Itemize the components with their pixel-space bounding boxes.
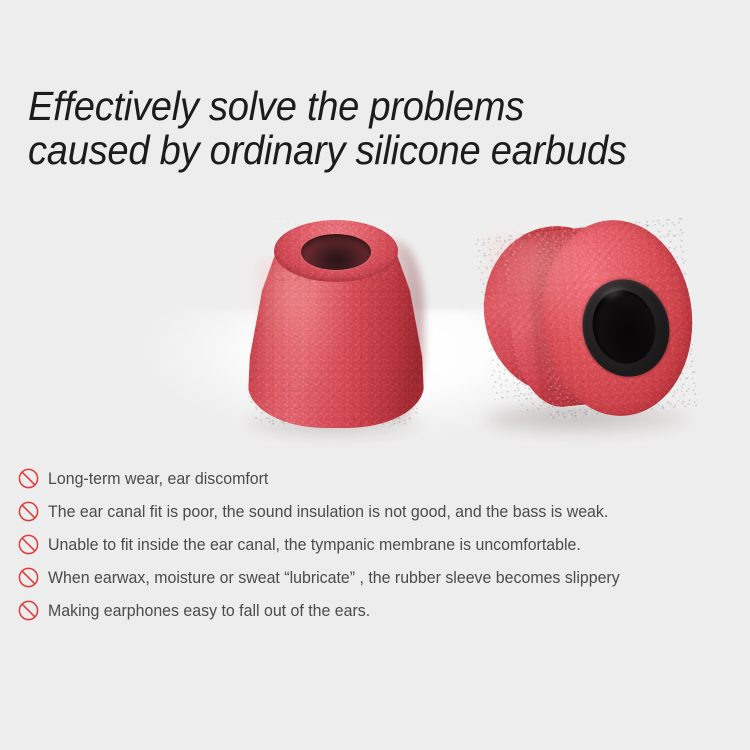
list-item-label: Making earphones easy to fall out of the… — [48, 601, 370, 621]
foam-bore-hole — [301, 234, 371, 270]
headline-line-2: caused by ordinary silicone earbuds — [28, 128, 679, 172]
product-marketing-poster: Effectively solve the problems caused by… — [0, 0, 750, 750]
prohibition-icon — [18, 600, 39, 621]
prohibition-icon — [18, 468, 39, 489]
list-item-label: When earwax, moisture or sweat “lubricat… — [48, 568, 620, 588]
list-item-label: Long-term wear, ear discomfort — [48, 469, 268, 489]
list-item: Long-term wear, ear discomfort — [18, 462, 750, 495]
list-item: The ear canal fit is poor, the sound ins… — [18, 495, 750, 528]
page-title: Effectively solve the problems caused by… — [28, 84, 728, 172]
headline-line-1: Effectively solve the problems — [28, 84, 679, 128]
upright-foam-tip — [248, 220, 424, 428]
list-item: When earwax, moisture or sweat “lubricat… — [18, 561, 750, 594]
list-item-label: Unable to fit inside the ear canal, the … — [48, 535, 581, 555]
problem-list: Long-term wear, ear discomfort The ear c… — [18, 462, 750, 627]
prohibition-icon — [18, 534, 39, 555]
prohibition-icon — [18, 501, 39, 522]
list-item: Making earphones easy to fall out of the… — [18, 594, 750, 627]
list-item: Unable to fit inside the ear canal, the … — [18, 528, 750, 561]
product-photo — [0, 190, 750, 445]
side-lying-foam-tip — [482, 212, 694, 428]
prohibition-icon — [18, 567, 39, 588]
list-item-label: The ear canal fit is poor, the sound ins… — [48, 502, 608, 522]
